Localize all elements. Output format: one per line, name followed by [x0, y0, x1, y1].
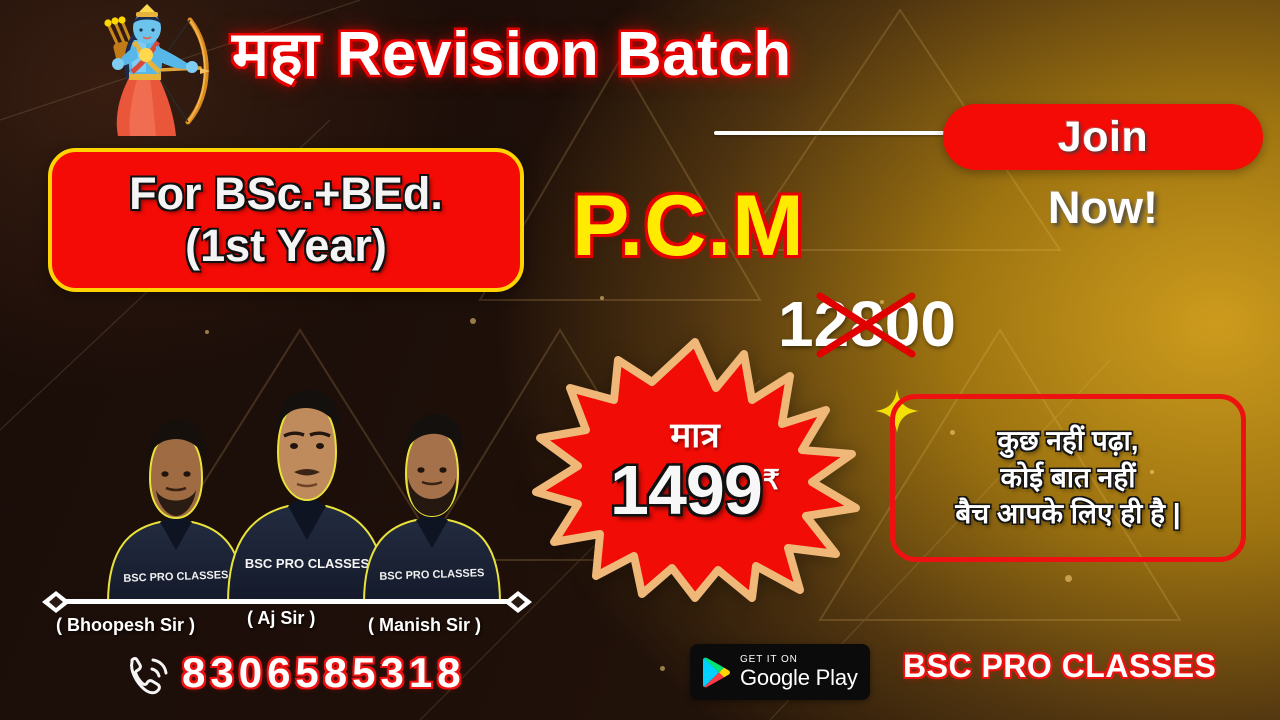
join-button-label: Join — [1058, 113, 1148, 162]
phone-call-icon — [122, 648, 174, 700]
course-badge-line1: For BSc.+BEd. — [129, 168, 443, 220]
faculty-1: BSC PRO CLASSES — [108, 420, 244, 603]
speck — [205, 330, 209, 334]
faculty-name-3: ( Manish Sir ) — [368, 615, 481, 636]
rama-archer-icon — [72, 2, 222, 142]
brand-name: BSC PRO CLASSES — [903, 648, 1216, 685]
speck — [600, 296, 604, 300]
faculty-3: BSC PRO CLASSES — [364, 414, 500, 603]
promo-banner: महा Revision Batch Join Now! For BSc.+BE… — [0, 0, 1280, 720]
faculty-name-1: ( Bhoopesh Sir ) — [56, 615, 195, 636]
google-play-triangle-icon — [702, 657, 730, 688]
course-badge: For BSc.+BEd. (1st Year) — [48, 148, 524, 292]
currency-symbol: ₹ — [763, 465, 780, 496]
google-play-big-text: Google Play — [740, 667, 858, 689]
join-button[interactable]: Join — [943, 104, 1263, 170]
price-prefix: मात्र — [670, 418, 719, 453]
title-divider-rule — [714, 131, 946, 135]
note-box: कुछ नहीं पढ़ा, कोई बात नहीं बैच आपके लिए… — [890, 394, 1246, 562]
subject-label: P.C.M — [572, 183, 805, 269]
diamond-left — [42, 591, 70, 613]
speck — [660, 666, 665, 671]
google-play-badge[interactable]: GET IT ON Google Play — [690, 644, 870, 700]
note-line-2: कोई बात नहीं — [1001, 460, 1136, 497]
note-line-1: कुछ नहीं पढ़ा, — [997, 423, 1138, 460]
note-line-3: बैच आपके लिए ही है | — [955, 496, 1180, 533]
diamond-right — [504, 591, 532, 613]
faculty-photo-group: BSC PRO CLASSES BSC PRO CLASSES — [88, 378, 518, 603]
speck — [1065, 575, 1072, 582]
contact-phone-number[interactable]: 8306585318 — [182, 650, 466, 696]
join-now-label: Now! — [943, 182, 1263, 234]
price-starburst: मात्र 1499 ₹ — [530, 336, 860, 602]
course-badge-line2: (1st Year) — [185, 220, 387, 272]
faculty-2: BSC PRO CLASSES — [228, 390, 386, 603]
price-amount: 1499 — [610, 455, 762, 525]
svg-text:BSC PRO CLASSES: BSC PRO CLASSES — [245, 556, 370, 571]
google-play-small-text: GET IT ON — [740, 655, 858, 665]
faculty-name-2: ( Aj Sir ) — [247, 608, 315, 629]
speck — [470, 318, 476, 324]
page-title: महा Revision Batch — [232, 22, 792, 87]
